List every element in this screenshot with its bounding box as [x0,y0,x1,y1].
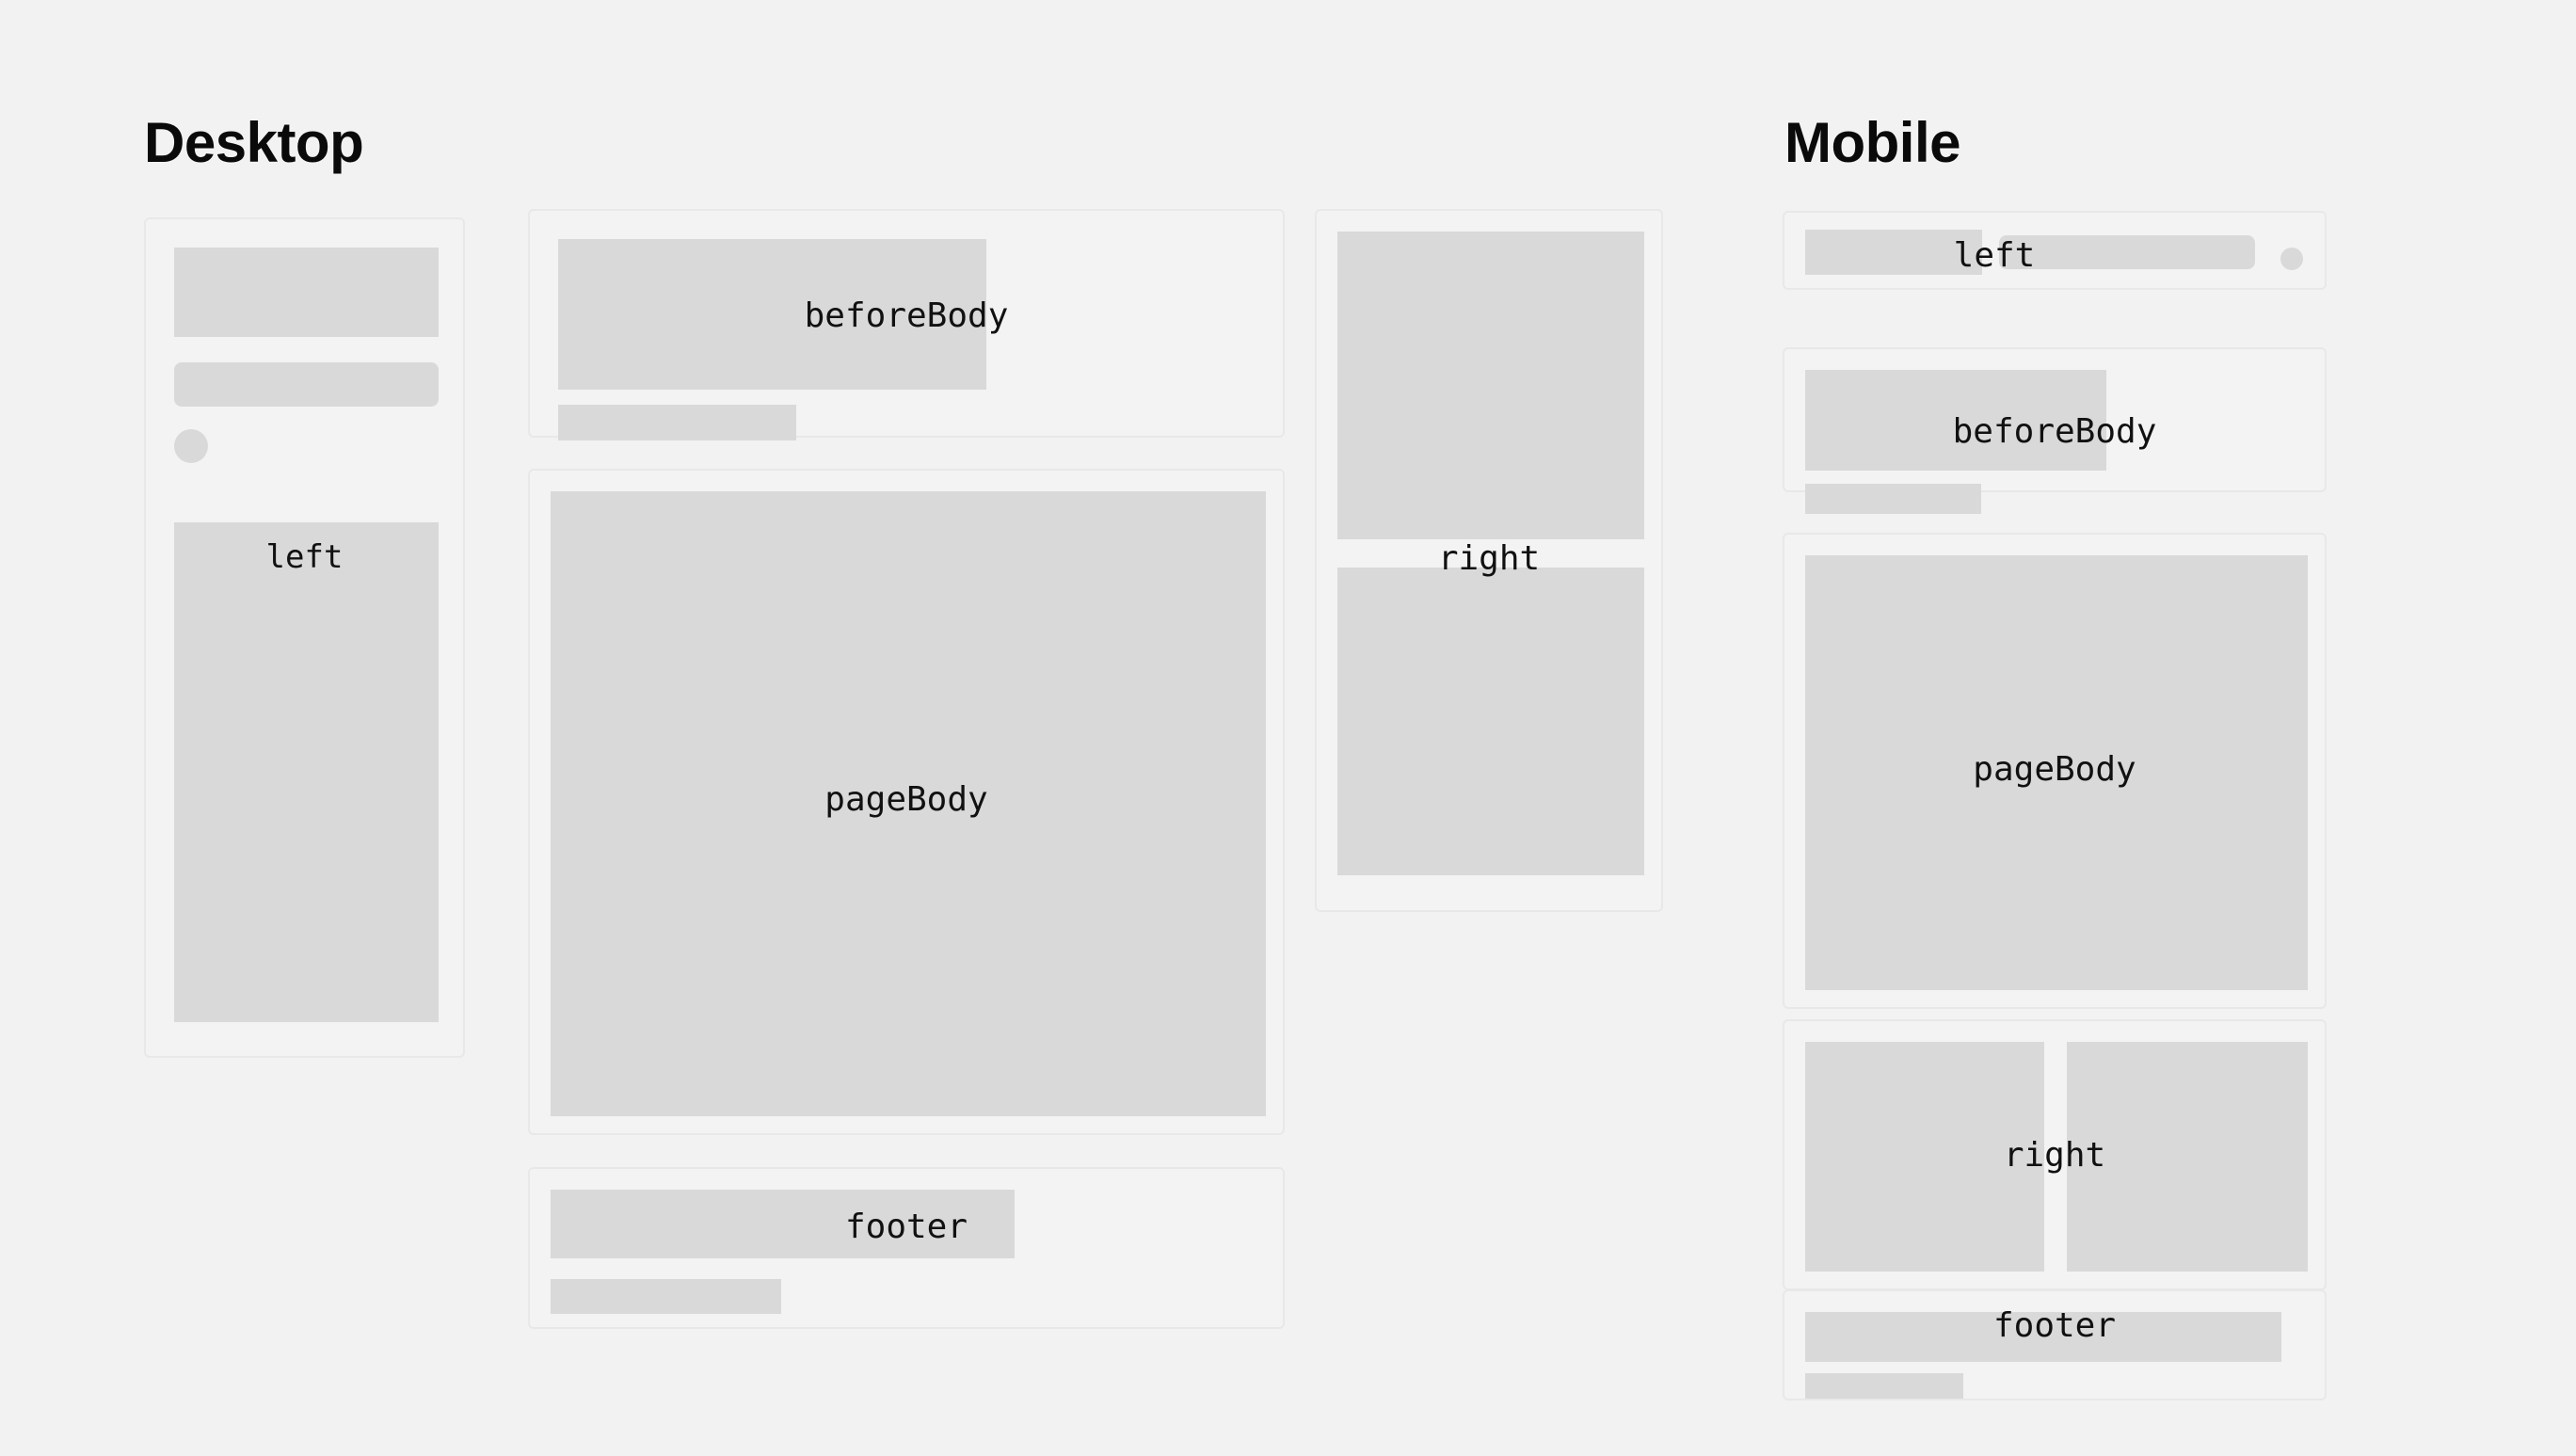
placeholder-block [558,239,986,390]
placeholder-block [1805,555,2308,990]
placeholder-bar [551,1279,781,1314]
placeholder-bar [558,405,796,440]
placeholder-block [2067,1042,2308,1272]
desktop-left-region-panel[interactable] [144,217,465,1058]
placeholder-block [1805,1042,2044,1272]
mobile-pagebody-region-panel[interactable] [1783,533,2327,1009]
placeholder-bar [1805,1373,1963,1399]
desktop-footer-region-panel[interactable] [528,1167,1285,1329]
placeholder-block [551,491,1266,1116]
mobile-section-title: Mobile [1784,115,1960,171]
placeholder-block [1337,568,1644,875]
placeholder-block [1337,232,1644,539]
placeholder-block [1805,370,2106,471]
placeholder-block [1805,1312,2281,1362]
placeholder-block [174,522,439,1022]
desktop-right-region-panel[interactable] [1315,209,1663,912]
placeholder-block [551,1190,1015,1258]
placeholder-avatar-circle [174,429,208,463]
placeholder-bar [174,362,439,407]
desktop-pagebody-region-panel[interactable] [528,469,1285,1135]
placeholder-avatar-circle [2280,248,2303,270]
mobile-right-region-panel[interactable] [1783,1019,2327,1290]
placeholder-bar [1999,235,2255,269]
placeholder-block [1805,230,1982,275]
desktop-section-title: Desktop [144,115,363,171]
mobile-footer-region-panel[interactable] [1783,1289,2327,1400]
wireframe-canvas: { "colors": { "page_background": "#f2f2f… [0,0,2576,1456]
mobile-beforebody-region-panel[interactable] [1783,347,2327,492]
mobile-left-region-panel[interactable] [1783,211,2327,290]
desktop-beforebody-region-panel[interactable] [528,209,1285,438]
placeholder-block [174,248,439,337]
placeholder-bar [1805,484,1981,514]
